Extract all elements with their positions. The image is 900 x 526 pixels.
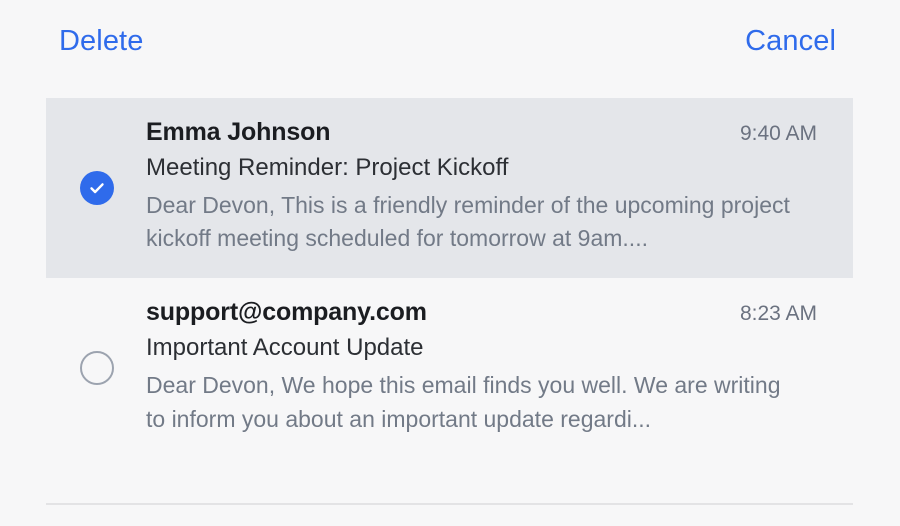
message-list-item[interactable]: Emma Johnson 9:40 AM Meeting Reminder: P… [46, 98, 853, 278]
sender-name: support@company.com [146, 296, 427, 328]
message-preview: Dear Devon, This is a friendly reminder … [146, 189, 806, 257]
list-bottom-divider [46, 503, 853, 505]
message-list-item[interactable]: support@company.com 8:23 AM Important Ac… [46, 278, 853, 458]
message-subject: Meeting Reminder: Project Kickoff [146, 151, 817, 185]
message-list: Emma Johnson 9:40 AM Meeting Reminder: P… [46, 98, 853, 458]
sender-name: Emma Johnson [146, 116, 330, 148]
action-bar: Delete Cancel [0, 0, 900, 82]
select-checkbox-cell[interactable] [46, 98, 146, 278]
message-timestamp: 8:23 AM [740, 301, 817, 328]
message-subject: Important Account Update [146, 331, 817, 365]
circle-outline-icon[interactable] [80, 351, 114, 385]
cancel-button[interactable]: Cancel [745, 27, 836, 56]
email-selection-screen: Delete Cancel Emma Johnson 9:40 AM Meeti… [0, 0, 900, 526]
message-header: Emma Johnson 9:40 AM [146, 116, 817, 148]
message-header: support@company.com 8:23 AM [146, 296, 817, 328]
message-timestamp: 9:40 AM [740, 121, 817, 148]
check-circle-filled-icon[interactable] [80, 171, 114, 205]
message-preview: Dear Devon, We hope this email finds you… [146, 369, 806, 437]
message-content: Emma Johnson 9:40 AM Meeting Reminder: P… [146, 98, 853, 278]
message-content: support@company.com 8:23 AM Important Ac… [146, 278, 853, 458]
select-checkbox-cell[interactable] [46, 278, 146, 458]
delete-button[interactable]: Delete [59, 27, 143, 56]
